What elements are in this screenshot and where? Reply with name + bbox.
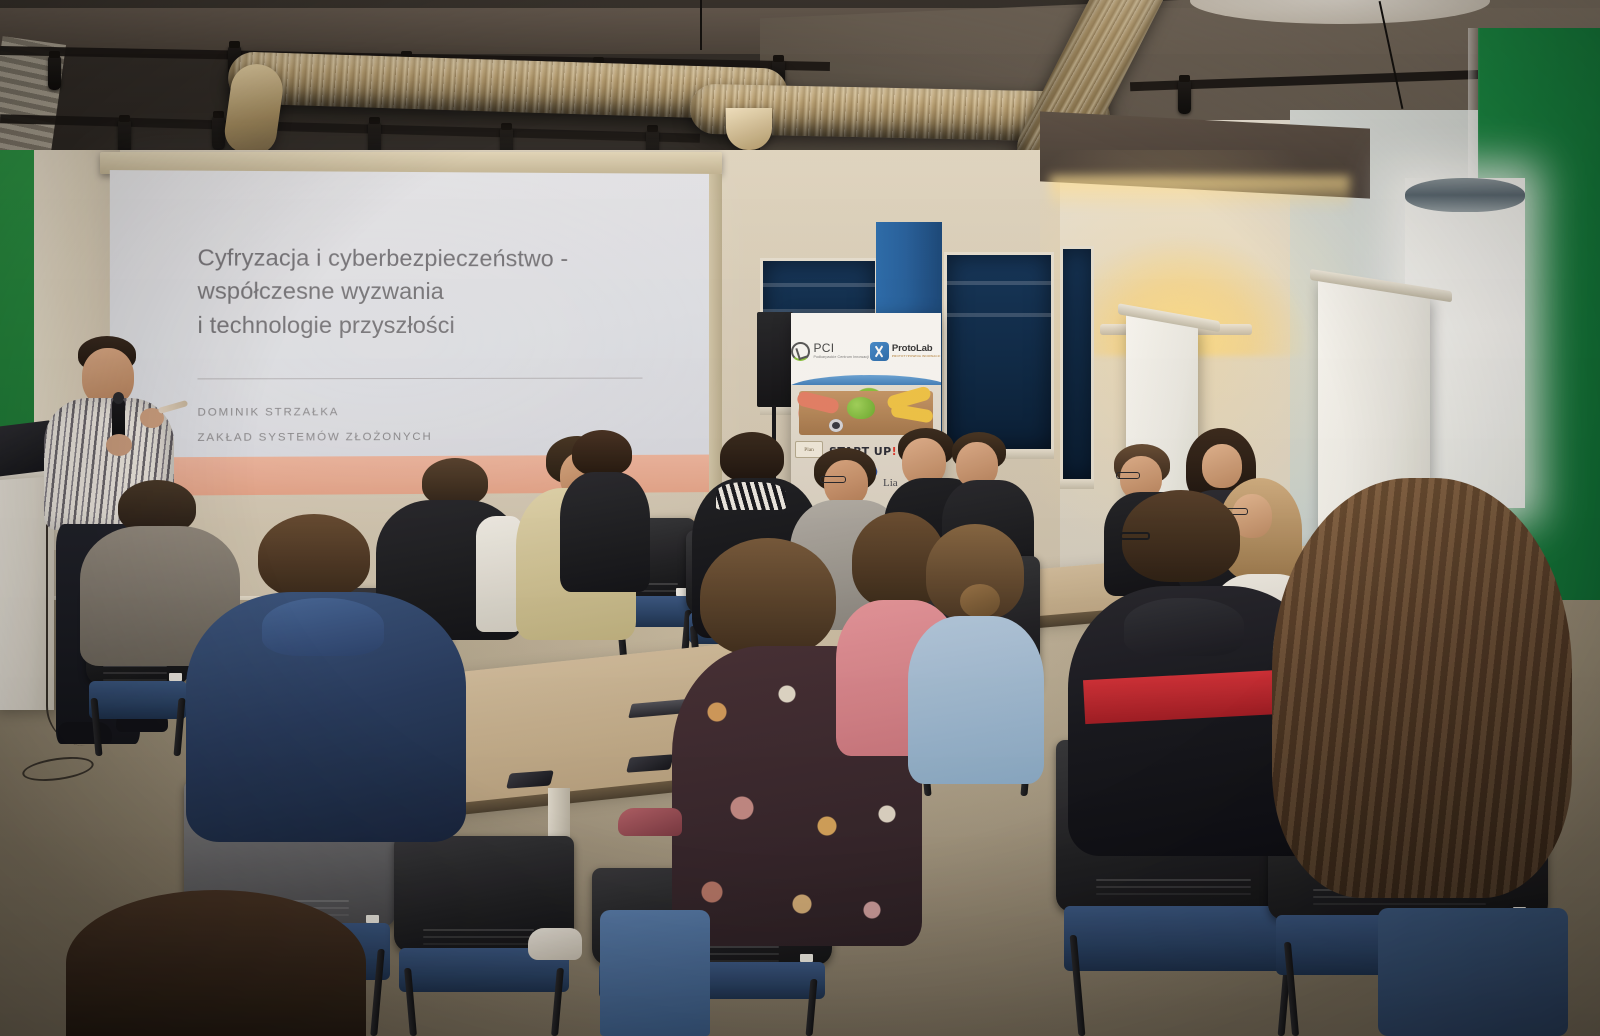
protolab-logo-name: ProtoLab <box>892 344 941 354</box>
hvac-duct-end <box>726 108 772 150</box>
pci-logo-name: PCI <box>813 342 869 354</box>
hair <box>572 430 632 476</box>
slide-presenter-name: DOMINIK STRZAŁKA <box>197 400 432 426</box>
illustration-camera-icon <box>829 419 843 432</box>
banner-logo-row: PCI Podkarpackie Centrum Innowacji Proto… <box>791 329 941 373</box>
slide-title-line: Cyfryzacja i cyberbezpieczeństwo - <box>197 241 666 276</box>
glasses-icon <box>1120 532 1150 540</box>
track-light-icon <box>1178 80 1191 114</box>
presentation-pointer <box>158 400 188 414</box>
track-light-icon <box>118 120 131 154</box>
protolab-logo: ProtoLab PROTOTYPOWNIA INNOWACJI <box>870 342 941 361</box>
hair <box>422 458 488 506</box>
patterned-collar <box>716 482 786 510</box>
slide-divider <box>197 378 642 380</box>
pci-logo: PCI Podkarpackie Centrum Innowacji <box>791 342 869 361</box>
hanging-cable <box>700 0 702 50</box>
protolab-logo-subtitle: PROTOTYPOWNIA INNOWACJI <box>892 355 941 358</box>
glasses-icon <box>1116 472 1140 479</box>
track-light-icon <box>212 116 225 150</box>
pci-mark-icon <box>791 342 810 361</box>
audience-member <box>66 890 366 1036</box>
glasses-icon <box>820 476 846 483</box>
hood <box>1124 598 1244 656</box>
hair-bun <box>960 584 1000 618</box>
slide-department: ZAKŁAD SYSTEMÓW ZŁOŻONYCH <box>197 425 432 451</box>
window-blind-head <box>1405 178 1525 212</box>
slide-title-line: i technologie przyszłości <box>197 309 666 343</box>
protolab-mark-icon <box>870 342 889 361</box>
illustration-broccoli <box>847 397 875 419</box>
window-blinds <box>944 252 1054 452</box>
hair <box>700 538 836 656</box>
audience-member <box>1272 478 1572 978</box>
pci-logo-subtitle: Podkarpackie Centrum Innowacji <box>813 356 869 360</box>
loudspeaker <box>757 312 793 407</box>
photo-scene: Cyfryzacja i cyberbezpieczeństwo - współ… <box>0 0 1600 1036</box>
slide-title: Cyfryzacja i cyberbezpieczeństwo - współ… <box>197 241 666 342</box>
sneaker <box>618 808 682 836</box>
jeans <box>1378 908 1568 1036</box>
slide-title-line: współczesne wyzwania <box>197 275 666 309</box>
presenter-hand <box>106 434 132 456</box>
track-light-icon <box>48 56 61 90</box>
audience-member <box>908 524 1048 794</box>
sneaker <box>528 928 582 960</box>
hair <box>66 890 366 1036</box>
torso-denim-jacket <box>908 616 1044 784</box>
hair-long <box>1272 478 1572 898</box>
jeans <box>600 910 710 1036</box>
hair <box>258 514 370 598</box>
hair <box>720 432 784 482</box>
hood <box>262 598 384 656</box>
audience-member <box>186 514 476 904</box>
window-blinds <box>1060 246 1094 482</box>
